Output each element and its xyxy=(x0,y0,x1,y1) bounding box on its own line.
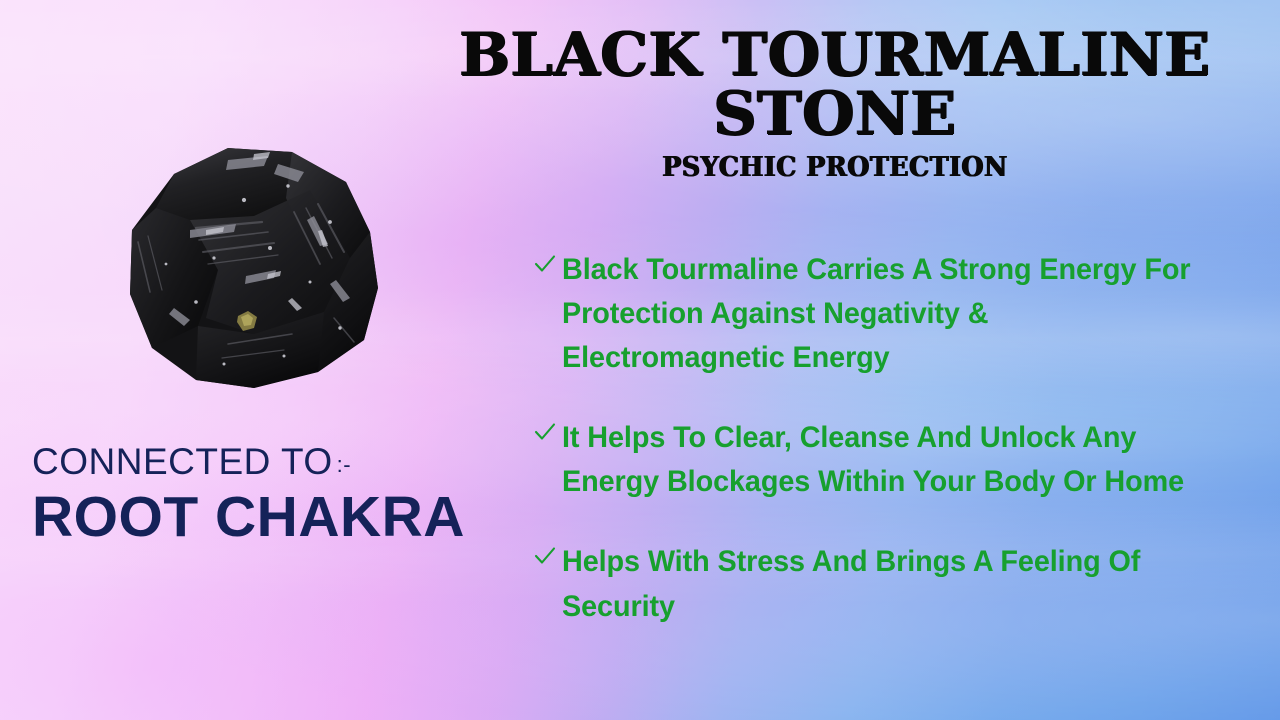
colon-dash-separator: :- xyxy=(337,452,351,477)
check-icon xyxy=(534,253,560,275)
connected-to-label: CONNECTED TO:- xyxy=(32,443,465,482)
benefit-text: Black Tourmaline Carries A Strong Energy… xyxy=(562,248,1207,380)
chakra-block: CONNECTED TO:- ROOT CHAKRA xyxy=(32,443,465,550)
benefit-text: It Helps To Clear, Cleanse And Unlock An… xyxy=(562,416,1207,504)
page-title: BLACK TOURMALINE STONE xyxy=(440,26,1230,144)
check-icon xyxy=(534,545,560,567)
benefit-text: Helps With Stress And Brings A Feeling O… xyxy=(562,540,1207,628)
connected-to-text: CONNECTED TO xyxy=(32,441,333,482)
benefits-list: Black Tourmaline Carries A Strong Energy… xyxy=(534,248,1234,629)
list-item: Helps With Stress And Brings A Feeling O… xyxy=(534,540,1234,628)
title-block: BLACK TOURMALINE STONE PSYCHIC PROTECTIO… xyxy=(440,26,1230,183)
chakra-name: ROOT CHAKRA xyxy=(32,486,465,550)
check-icon xyxy=(534,421,560,443)
black-tourmaline-stone-image xyxy=(78,112,408,422)
list-item: It Helps To Clear, Cleanse And Unlock An… xyxy=(534,416,1234,504)
infographic-canvas: BLACK TOURMALINE STONE PSYCHIC PROTECTIO… xyxy=(0,0,1280,720)
page-subtitle: PSYCHIC PROTECTION xyxy=(464,152,1207,183)
list-item: Black Tourmaline Carries A Strong Energy… xyxy=(534,248,1234,380)
